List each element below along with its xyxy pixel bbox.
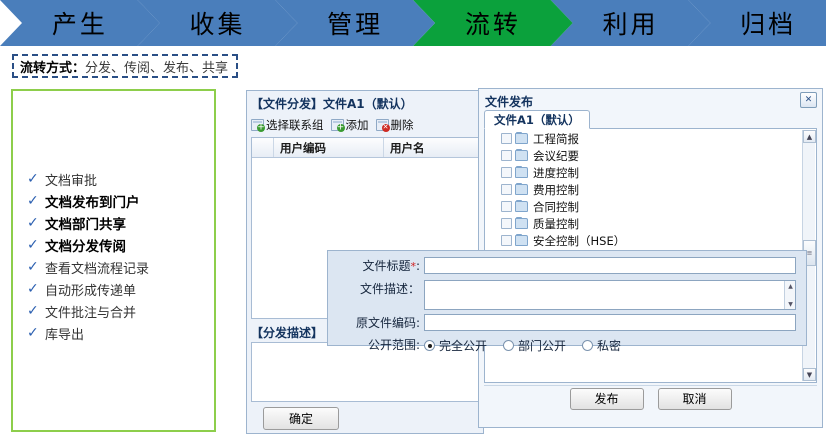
form-row-original-code: 原文件编码: bbox=[336, 314, 796, 332]
tree-item-label: 合同控制 bbox=[533, 199, 579, 215]
publish-button[interactable]: 发布 bbox=[570, 388, 644, 410]
form-row-description: 文件描述： ▲ ▼ bbox=[336, 280, 796, 310]
cancel-button[interactable]: 取消 bbox=[658, 388, 732, 410]
file-description-label-text: 文件描述 bbox=[360, 282, 408, 296]
feature-item-label: 自动形成传递单 bbox=[45, 280, 136, 299]
scope-radio-label: 私密 bbox=[597, 337, 621, 354]
toolbar-select-group-button[interactable]: ＋选择联系组 bbox=[251, 117, 324, 133]
process-step-label: 管理 bbox=[327, 5, 383, 41]
grid-header-user-name: 用户名 bbox=[384, 138, 478, 157]
publish-button-bar: 发布取消 bbox=[484, 385, 817, 411]
select-group-icon: ＋ bbox=[251, 119, 264, 131]
feature-checklist: ✓文档审批✓文档发布到门户✓文档部门共享✓文档分发传阅✓查看文档流程记录✓自动形… bbox=[27, 169, 149, 345]
check-icon: ✓ bbox=[27, 216, 45, 230]
toolbar-button-label: 删除 bbox=[391, 117, 414, 133]
distribute-description-title: 【分发描述】 bbox=[251, 324, 323, 340]
file-title-label: 文件标题*: bbox=[336, 257, 424, 276]
feature-item: ✓查看文档流程记录 bbox=[27, 257, 149, 277]
publish-window-title: 文件发布 bbox=[485, 93, 533, 110]
feature-item: ✓文档发布到门户 bbox=[27, 191, 149, 211]
tree-item[interactable]: 合同控制 bbox=[485, 198, 802, 215]
textarea-scroll-down-icon[interactable]: ▼ bbox=[785, 299, 796, 309]
feature-item-label: 文档审批 bbox=[45, 170, 97, 189]
scope-radio-group: 完全公开部门公开私密 bbox=[424, 336, 621, 354]
subtitle-key: 流转方式： bbox=[20, 57, 85, 76]
textarea-scroll-up-icon[interactable]: ▲ bbox=[785, 281, 796, 291]
original-file-code-input[interactable] bbox=[424, 314, 796, 331]
folder-icon bbox=[515, 235, 528, 246]
tree-item[interactable]: 进度控制 bbox=[485, 164, 802, 181]
feature-item-label: 文档分发传阅 bbox=[45, 235, 126, 255]
check-icon: ✓ bbox=[27, 194, 45, 208]
feature-item-label: 文件批注与合并 bbox=[45, 302, 136, 321]
textarea-scrollbar[interactable]: ▲ ▼ bbox=[784, 281, 795, 309]
tree-item-label: 质量控制 bbox=[533, 216, 579, 232]
check-icon: ✓ bbox=[27, 304, 45, 318]
user-grid-header: 用户编码 用户名 bbox=[252, 138, 478, 158]
tree-item-checkbox[interactable] bbox=[501, 167, 512, 178]
close-icon[interactable]: ✕ bbox=[800, 92, 817, 108]
delete-icon: ✕ bbox=[376, 119, 389, 131]
original-file-code-label: 原文件编码: bbox=[336, 314, 424, 332]
feature-item: ✓文件批注与合并 bbox=[27, 301, 149, 321]
tree-item-checkbox[interactable] bbox=[501, 184, 512, 195]
tree-item-checkbox[interactable] bbox=[501, 150, 512, 161]
scope-radio-label: 完全公开 bbox=[439, 337, 487, 354]
process-step-5: 利用 bbox=[551, 0, 711, 46]
check-icon: ✓ bbox=[27, 238, 45, 252]
file-description-label: 文件描述： bbox=[336, 280, 424, 298]
tree-item[interactable]: 会议纪要 bbox=[485, 147, 802, 164]
del-badge-icon: ✕ bbox=[382, 124, 390, 132]
add-badge-icon: ＋ bbox=[257, 124, 265, 132]
folder-icon bbox=[515, 133, 528, 144]
scope-radio-option[interactable]: 部门公开 bbox=[503, 337, 566, 354]
tree-item[interactable]: 费用控制 bbox=[485, 181, 802, 198]
tree-item-checkbox[interactable] bbox=[501, 235, 512, 246]
radio-icon[interactable] bbox=[424, 340, 435, 351]
folder-icon bbox=[515, 184, 528, 195]
scroll-up-icon[interactable]: ▲ bbox=[803, 130, 816, 143]
folder-icon bbox=[515, 201, 528, 212]
process-step-2: 收集 bbox=[138, 0, 298, 46]
subtitle-value: 分发、传阅、发布、共享 bbox=[85, 57, 228, 76]
process-step-label: 利用 bbox=[602, 5, 658, 41]
check-icon: ✓ bbox=[27, 326, 45, 340]
check-icon: ✓ bbox=[27, 260, 45, 274]
subtitle-callout: 流转方式： 分发、传阅、发布、共享 bbox=[12, 54, 238, 78]
feature-item: ✓自动形成传递单 bbox=[27, 279, 149, 299]
scope-radio-option[interactable]: 私密 bbox=[582, 337, 621, 354]
publish-form-dialog: 文件标题*: 文件描述： ▲ ▼ 原文件编码: 公开范围: 完全公开部门公开私密 bbox=[327, 250, 807, 346]
check-icon: ✓ bbox=[27, 282, 45, 296]
scope-label: 公开范围: bbox=[336, 336, 424, 354]
required-marker: * bbox=[410, 260, 416, 273]
grid-header-select bbox=[252, 138, 274, 157]
process-step-4: 流转 bbox=[413, 0, 573, 46]
process-step-label: 归档 bbox=[740, 5, 796, 41]
form-row-title: 文件标题*: bbox=[336, 257, 796, 276]
tree-item-checkbox[interactable] bbox=[501, 218, 512, 229]
feature-item: ✓文档分发传阅 bbox=[27, 235, 149, 255]
feature-item-label: 查看文档流程记录 bbox=[45, 258, 149, 277]
feature-item: ✓文档部门共享 bbox=[27, 213, 149, 233]
folder-icon bbox=[515, 218, 528, 229]
process-step-banner: 产生收集管理流转利用归档 bbox=[0, 0, 826, 46]
toolbar-button-label: 添加 bbox=[346, 117, 369, 133]
tree-item-label: 会议纪要 bbox=[533, 148, 579, 164]
process-step-label: 产生 bbox=[52, 5, 108, 41]
distribute-confirm-button[interactable]: 确定 bbox=[263, 407, 339, 430]
file-title-label-text: 文件标题 bbox=[362, 259, 410, 273]
feature-item: ✓库导出 bbox=[27, 323, 149, 343]
distribute-window-title: 【文件分发】文件A1（默认） bbox=[251, 95, 479, 113]
radio-icon[interactable] bbox=[582, 340, 593, 351]
add-badge-icon: ＋ bbox=[337, 124, 345, 132]
feature-list-panel: ✓文档审批✓文档发布到门户✓文档部门共享✓文档分发传阅✓查看文档流程记录✓自动形… bbox=[11, 89, 216, 432]
feature-item-label: 文档部门共享 bbox=[45, 213, 126, 233]
process-step-label: 流转 bbox=[465, 5, 521, 41]
feature-item-label: 文档发布到门户 bbox=[45, 191, 140, 211]
toolbar-add-button[interactable]: ＋添加 bbox=[331, 117, 369, 133]
check-icon: ✓ bbox=[27, 172, 45, 186]
form-row-scope: 公开范围: 完全公开部门公开私密 bbox=[336, 336, 796, 354]
grid-header-user-code: 用户编码 bbox=[274, 138, 384, 157]
tree-item-label: 费用控制 bbox=[533, 182, 579, 198]
feature-item: ✓文档审批 bbox=[27, 169, 149, 189]
toolbar-delete-button[interactable]: ✕删除 bbox=[376, 117, 414, 133]
publish-tabbar: 文件A1（默认） bbox=[484, 110, 817, 129]
tree-item-checkbox[interactable] bbox=[501, 133, 512, 144]
file-description-textarea[interactable]: ▲ ▼ bbox=[424, 280, 796, 310]
scope-radio-label: 部门公开 bbox=[518, 337, 566, 354]
tree-item[interactable]: 工程简报 bbox=[485, 130, 802, 147]
tree-item-label: 工程简报 bbox=[533, 131, 579, 147]
radio-icon[interactable] bbox=[503, 340, 514, 351]
toolbar-button-label: 选择联系组 bbox=[266, 117, 324, 133]
add-icon: ＋ bbox=[331, 119, 344, 131]
process-step-3: 管理 bbox=[275, 0, 435, 46]
distribute-toolbar: ＋选择联系组＋添加✕删除 bbox=[251, 115, 479, 135]
original-file-code-label-text: 原文件编码 bbox=[356, 316, 416, 330]
file-title-input[interactable] bbox=[424, 257, 796, 274]
tab-file-a1[interactable]: 文件A1（默认） bbox=[484, 110, 590, 129]
tree-item[interactable]: 质量控制 bbox=[485, 215, 802, 232]
scroll-down-icon[interactable]: ▼ bbox=[803, 368, 816, 381]
feature-item-label: 库导出 bbox=[45, 324, 84, 343]
tree-item-checkbox[interactable] bbox=[501, 201, 512, 212]
folder-icon bbox=[515, 150, 528, 161]
process-step-label: 收集 bbox=[189, 5, 245, 41]
tree-item-label: 进度控制 bbox=[533, 165, 579, 181]
tree-item-label: 安全控制（HSE） bbox=[533, 233, 625, 249]
tree-item[interactable]: 安全控制（HSE） bbox=[485, 232, 802, 249]
folder-icon bbox=[515, 167, 528, 178]
process-step-1: 产生 bbox=[0, 0, 160, 46]
scope-radio-option[interactable]: 完全公开 bbox=[424, 337, 487, 354]
